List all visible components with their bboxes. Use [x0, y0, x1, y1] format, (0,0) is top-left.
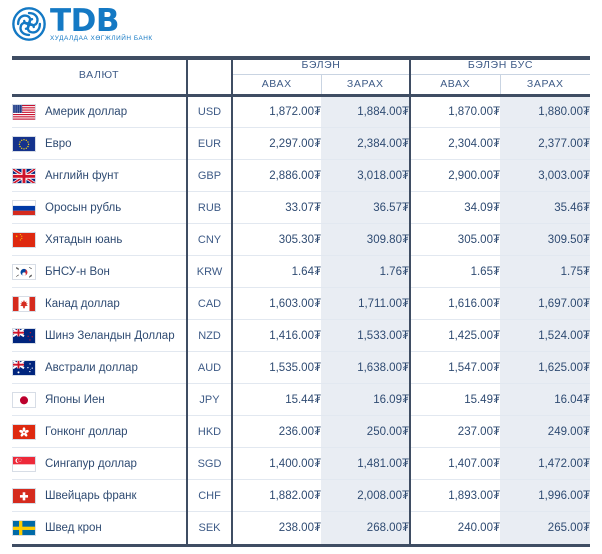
table-top-rule [12, 56, 590, 60]
col-header-code [187, 56, 232, 94]
currency-name: Америк доллар [45, 106, 127, 118]
currency-name: Хятадын юань [45, 234, 122, 246]
currency-code: RUB [187, 192, 232, 224]
noncash-sell-rate: 1,697.00₮ [500, 288, 590, 320]
currency-code: NZD [187, 320, 232, 352]
currency-code: KRW [187, 256, 232, 288]
noncash-sell-rate: 1,472.00₮ [500, 448, 590, 480]
tdb-logo[interactable]: TDB ХУДАЛДАА ХӨГЖЛИЙН БАНК [12, 6, 153, 42]
table-row: Гонконг долларHKD236.00₮250.00₮237.00₮24… [12, 416, 590, 448]
brand-name: TDB [50, 6, 153, 32]
currency-name: Английн фунт [45, 170, 119, 182]
cash-sell-rate: 1,711.00₮ [321, 288, 410, 320]
currency-name: Оросын рубль [45, 202, 121, 214]
cash-sell-rate: 250.00₮ [321, 416, 410, 448]
cash-buy-rate: 1,416.00₮ [232, 320, 321, 352]
currency-name: Австрали доллар [45, 362, 138, 374]
col-header-noncash-sell: ЗАРАХ [500, 74, 590, 94]
noncash-buy-rate: 237.00₮ [410, 416, 500, 448]
noncash-buy-rate: 1,407.00₮ [410, 448, 500, 480]
currency-name: Евро [45, 138, 72, 150]
cash-sell-rate: 268.00₮ [321, 512, 410, 544]
cash-sell-rate: 309.80₮ [321, 224, 410, 256]
currency-name: Шинэ Зеландын Доллар [45, 330, 175, 342]
exchange-rate-table: ВАЛЮТ БЭЛЭН БЭЛЭН БУС АВАХ ЗАРАХ АВАХ ЗА… [12, 56, 590, 544]
noncash-sell-rate: 1,625.00₮ [500, 352, 590, 384]
noncash-sell-rate: 249.00₮ [500, 416, 590, 448]
noncash-buy-rate: 15.49₮ [410, 384, 500, 416]
cash-sell-rate: 1.76₮ [321, 256, 410, 288]
table-row: Америк долларUSD1,872.00₮1,884.00₮1,870.… [12, 96, 590, 128]
currency-cell: Гонконг доллар [12, 416, 187, 448]
noncash-sell-rate: 1,880.00₮ [500, 96, 590, 128]
flag-nz-icon [12, 328, 36, 344]
currency-name: Японы Иен [45, 394, 105, 406]
cash-buy-rate: 1,400.00₮ [232, 448, 321, 480]
currency-code: GBP [187, 160, 232, 192]
flag-us-icon [12, 104, 36, 120]
table-row: Хятадын юаньCNY305.30₮309.80₮305.00₮309.… [12, 224, 590, 256]
table-row: Швед кронSEK238.00₮268.00₮240.00₮265.00₮ [12, 512, 590, 544]
exchange-rates-page: TDB ХУДАЛДАА ХӨГЖЛИЙН БАНК MNB МОНГОЛЫН … [0, 0, 602, 554]
cash-buy-rate: 33.07₮ [232, 192, 321, 224]
cash-sell-rate: 36.57₮ [321, 192, 410, 224]
cash-buy-rate: 2,297.00₮ [232, 128, 321, 160]
currency-code: HKD [187, 416, 232, 448]
currency-cell: Евро [12, 128, 187, 160]
table-row: Оросын рубльRUB33.07₮36.57₮34.09₮35.46₮ [12, 192, 590, 224]
noncash-sell-rate: 2,377.00₮ [500, 128, 590, 160]
flag-ca-icon [12, 296, 36, 312]
flag-eu-icon [12, 136, 36, 152]
table-row: Шинэ Зеландын ДолларNZD1,416.00₮1,533.00… [12, 320, 590, 352]
flag-jp-icon [12, 392, 36, 408]
noncash-buy-rate: 34.09₮ [410, 192, 500, 224]
cash-buy-rate: 1,872.00₮ [232, 96, 321, 128]
cash-buy-rate: 15.44₮ [232, 384, 321, 416]
cash-buy-rate: 305.30₮ [232, 224, 321, 256]
currency-cell: Японы Иен [12, 384, 187, 416]
currency-cell: Шинэ Зеландын Доллар [12, 320, 187, 352]
cash-buy-rate: 236.00₮ [232, 416, 321, 448]
col-header-currency: ВАЛЮТ [12, 56, 187, 94]
currency-cell: Канад доллар [12, 288, 187, 320]
currency-cell: Швед крон [12, 512, 187, 544]
flag-cn-icon [12, 232, 36, 248]
noncash-sell-rate: 3,003.00₮ [500, 160, 590, 192]
noncash-buy-rate: 2,304.00₮ [410, 128, 500, 160]
noncash-buy-rate: 1.65₮ [410, 256, 500, 288]
col-header-cash-sell: ЗАРАХ [321, 74, 410, 94]
table-row: Австрали долларAUD1,535.00₮1,638.00₮1,54… [12, 352, 590, 384]
noncash-sell-rate: 35.46₮ [500, 192, 590, 224]
currency-cell: Оросын рубль [12, 192, 187, 224]
noncash-buy-rate: 1,547.00₮ [410, 352, 500, 384]
noncash-buy-rate: 1,425.00₮ [410, 320, 500, 352]
currency-code: SGD [187, 448, 232, 480]
currency-name: БНСУ-н Вон [45, 266, 110, 278]
table-row: БНСУ-н ВонKRW1.64₮1.76₮1.65₮1.75₮ [12, 256, 590, 288]
noncash-sell-rate: 1.75₮ [500, 256, 590, 288]
currency-code: AUD [187, 352, 232, 384]
cash-buy-rate: 238.00₮ [232, 512, 321, 544]
currency-cell: Австрали доллар [12, 352, 187, 384]
cash-sell-rate: 1,884.00₮ [321, 96, 410, 128]
flag-hk-icon [12, 424, 36, 440]
col-header-noncash-buy: АВАХ [410, 74, 500, 94]
flag-au-icon [12, 360, 36, 376]
noncash-sell-rate: 1,524.00₮ [500, 320, 590, 352]
cash-sell-rate: 2,384.00₮ [321, 128, 410, 160]
currency-name: Гонконг доллар [45, 426, 128, 438]
cash-buy-rate: 1.64₮ [232, 256, 321, 288]
cash-buy-rate: 1,603.00₮ [232, 288, 321, 320]
currency-cell: Америк доллар [12, 96, 187, 128]
currency-code: CNY [187, 224, 232, 256]
cash-buy-rate: 2,886.00₮ [232, 160, 321, 192]
currency-cell: Английн фунт [12, 160, 187, 192]
noncash-buy-rate: 1,616.00₮ [410, 288, 500, 320]
currency-name: Швейцарь франк [45, 490, 137, 502]
cash-sell-rate: 1,533.00₮ [321, 320, 410, 352]
cash-sell-rate: 3,018.00₮ [321, 160, 410, 192]
currency-code: USD [187, 96, 232, 128]
currency-name: Сингапур доллар [45, 458, 137, 470]
table-row: Швейцарь франкCHF1,882.00₮2,008.00₮1,893… [12, 480, 590, 512]
flag-kr-icon [12, 264, 36, 280]
cash-buy-rate: 1,535.00₮ [232, 352, 321, 384]
flag-ch-icon [12, 488, 36, 504]
flag-ru-icon [12, 200, 36, 216]
table-row: Английн фунтGBP2,886.00₮3,018.00₮2,900.0… [12, 160, 590, 192]
table-row: Сингапур долларSGD1,400.00₮1,481.00₮1,40… [12, 448, 590, 480]
noncash-buy-rate: 240.00₮ [410, 512, 500, 544]
brand-header: TDB ХУДАЛДАА ХӨГЖЛИЙН БАНК [0, 0, 602, 52]
currency-code: CAD [187, 288, 232, 320]
cash-sell-rate: 1,638.00₮ [321, 352, 410, 384]
table-row: Японы ИенJPY15.44₮16.09₮15.49₮16.04₮ [12, 384, 590, 416]
flag-gb-icon [12, 168, 36, 184]
noncash-buy-rate: 1,870.00₮ [410, 96, 500, 128]
table-row: Канад долларCAD1,603.00₮1,711.00₮1,616.0… [12, 288, 590, 320]
noncash-buy-rate: 1,893.00₮ [410, 480, 500, 512]
tdb-swirl-icon [12, 7, 46, 41]
noncash-sell-rate: 265.00₮ [500, 512, 590, 544]
currency-code: CHF [187, 480, 232, 512]
currency-cell: БНСУ-н Вон [12, 256, 187, 288]
table-body: Америк долларUSD1,872.00₮1,884.00₮1,870.… [12, 96, 590, 544]
flag-sg-icon [12, 456, 36, 472]
noncash-sell-rate: 309.50₮ [500, 224, 590, 256]
noncash-sell-rate: 16.04₮ [500, 384, 590, 416]
currency-cell: Сингапур доллар [12, 448, 187, 480]
cash-sell-rate: 16.09₮ [321, 384, 410, 416]
noncash-sell-rate: 1,996.00₮ [500, 480, 590, 512]
currency-name: Швед крон [45, 522, 102, 534]
exchange-rate-table-wrap: ВАЛЮТ БЭЛЭН БЭЛЭН БУС АВАХ ЗАРАХ АВАХ ЗА… [12, 56, 590, 544]
currency-name: Канад доллар [45, 298, 120, 310]
table-head: ВАЛЮТ БЭЛЭН БЭЛЭН БУС АВАХ ЗАРАХ АВАХ ЗА… [12, 56, 590, 96]
currency-code: JPY [187, 384, 232, 416]
brand-tagline: ХУДАЛДАА ХӨГЖЛИЙН БАНК [50, 36, 153, 42]
currency-cell: Хятадын юань [12, 224, 187, 256]
noncash-buy-rate: 305.00₮ [410, 224, 500, 256]
currency-code: SEK [187, 512, 232, 544]
table-row: ЕвроEUR2,297.00₮2,384.00₮2,304.00₮2,377.… [12, 128, 590, 160]
flag-se-icon [12, 520, 36, 536]
col-header-cash-buy: АВАХ [232, 74, 321, 94]
cash-sell-rate: 2,008.00₮ [321, 480, 410, 512]
table-bottom-rule [12, 544, 590, 547]
cash-buy-rate: 1,882.00₮ [232, 480, 321, 512]
cash-sell-rate: 1,481.00₮ [321, 448, 410, 480]
currency-cell: Швейцарь франк [12, 480, 187, 512]
currency-code: EUR [187, 128, 232, 160]
noncash-buy-rate: 2,900.00₮ [410, 160, 500, 192]
